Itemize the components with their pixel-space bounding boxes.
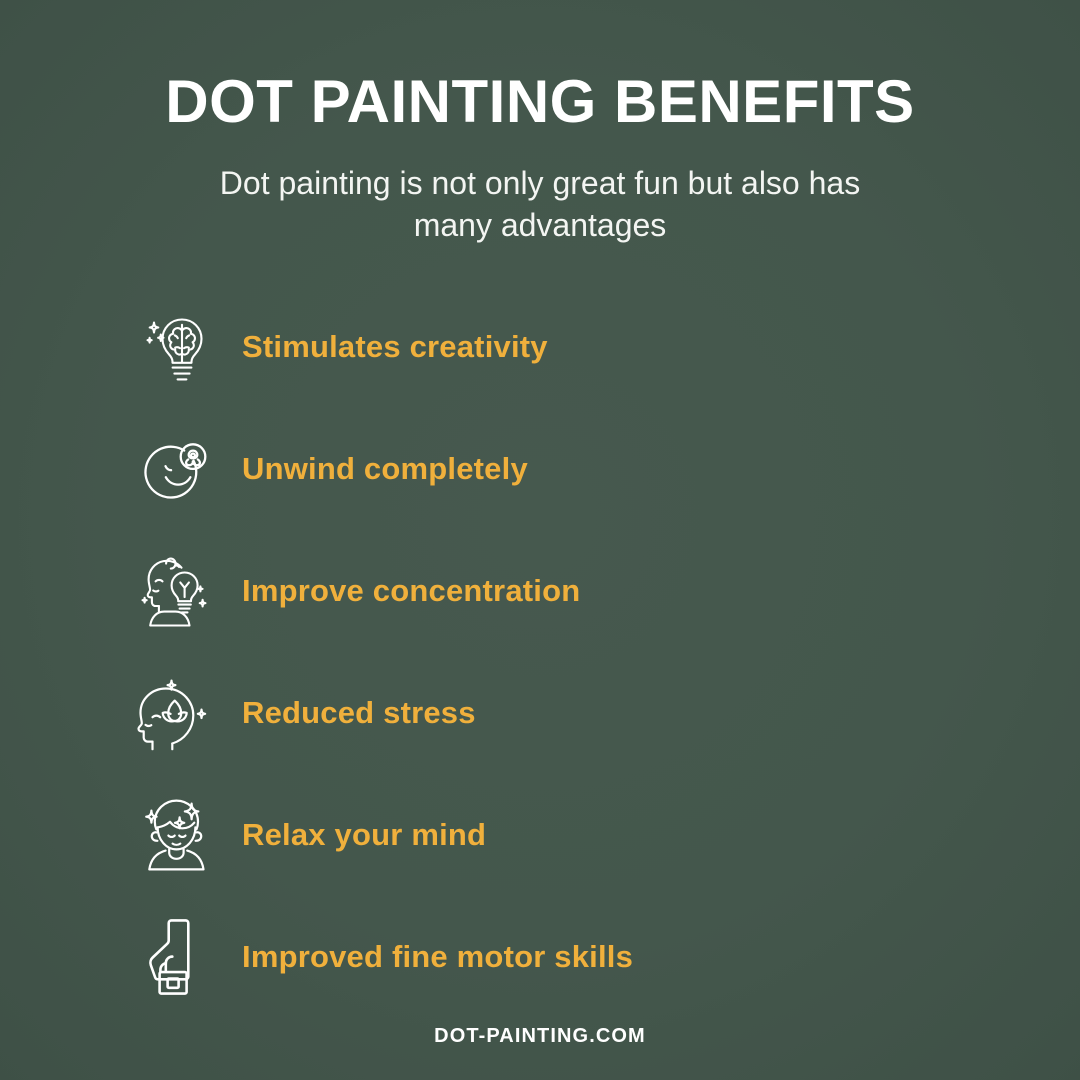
footer-website-url: DOT-PAINTING.COM	[434, 1025, 646, 1047]
smiling-face-flower-badge-icon	[138, 428, 216, 510]
hand-pinching-block-icon	[138, 916, 216, 998]
benefit-label: Improved fine motor skills	[242, 939, 633, 975]
head-profile-lightbulb-icon	[138, 550, 216, 632]
subtitle-line-2: many advantages	[145, 204, 935, 246]
lightbulb-brain-sparkle-icon	[138, 306, 216, 388]
benefit-label: Unwind completely	[242, 451, 528, 487]
benefit-item-relax-your-mind: Relax your mind	[138, 774, 998, 896]
calm-face-sparkles-icon	[138, 794, 216, 876]
benefit-label: Reduced stress	[242, 695, 476, 731]
benefit-label: Relax your mind	[242, 817, 486, 853]
benefits-list: Stimulates creativity Unwind completely	[138, 286, 998, 1018]
benefit-label: Improve concentration	[242, 573, 580, 609]
benefit-item-improved-fine-motor-skills: Improved fine motor skills	[138, 896, 998, 1018]
page-subtitle: Dot painting is not only great fun but a…	[145, 162, 935, 246]
benefit-item-improve-concentration: Improve concentration	[138, 530, 998, 652]
benefit-item-unwind-completely: Unwind completely	[138, 408, 998, 530]
benefit-item-reduced-stress: Reduced stress	[138, 652, 998, 774]
benefit-label: Stimulates creativity	[242, 329, 548, 365]
footer: DOT-PAINTING.COM	[0, 1025, 1080, 1048]
head-profile-lotus-icon	[138, 672, 216, 754]
subtitle-line-1: Dot painting is not only great fun but a…	[145, 162, 935, 204]
header: DOT PAINTING BENEFITS Dot painting is no…	[0, 0, 1080, 246]
infographic-poster: DOT PAINTING BENEFITS Dot painting is no…	[0, 0, 1080, 1080]
benefit-item-stimulates-creativity: Stimulates creativity	[138, 286, 998, 408]
page-title: DOT PAINTING BENEFITS	[0, 72, 1080, 132]
